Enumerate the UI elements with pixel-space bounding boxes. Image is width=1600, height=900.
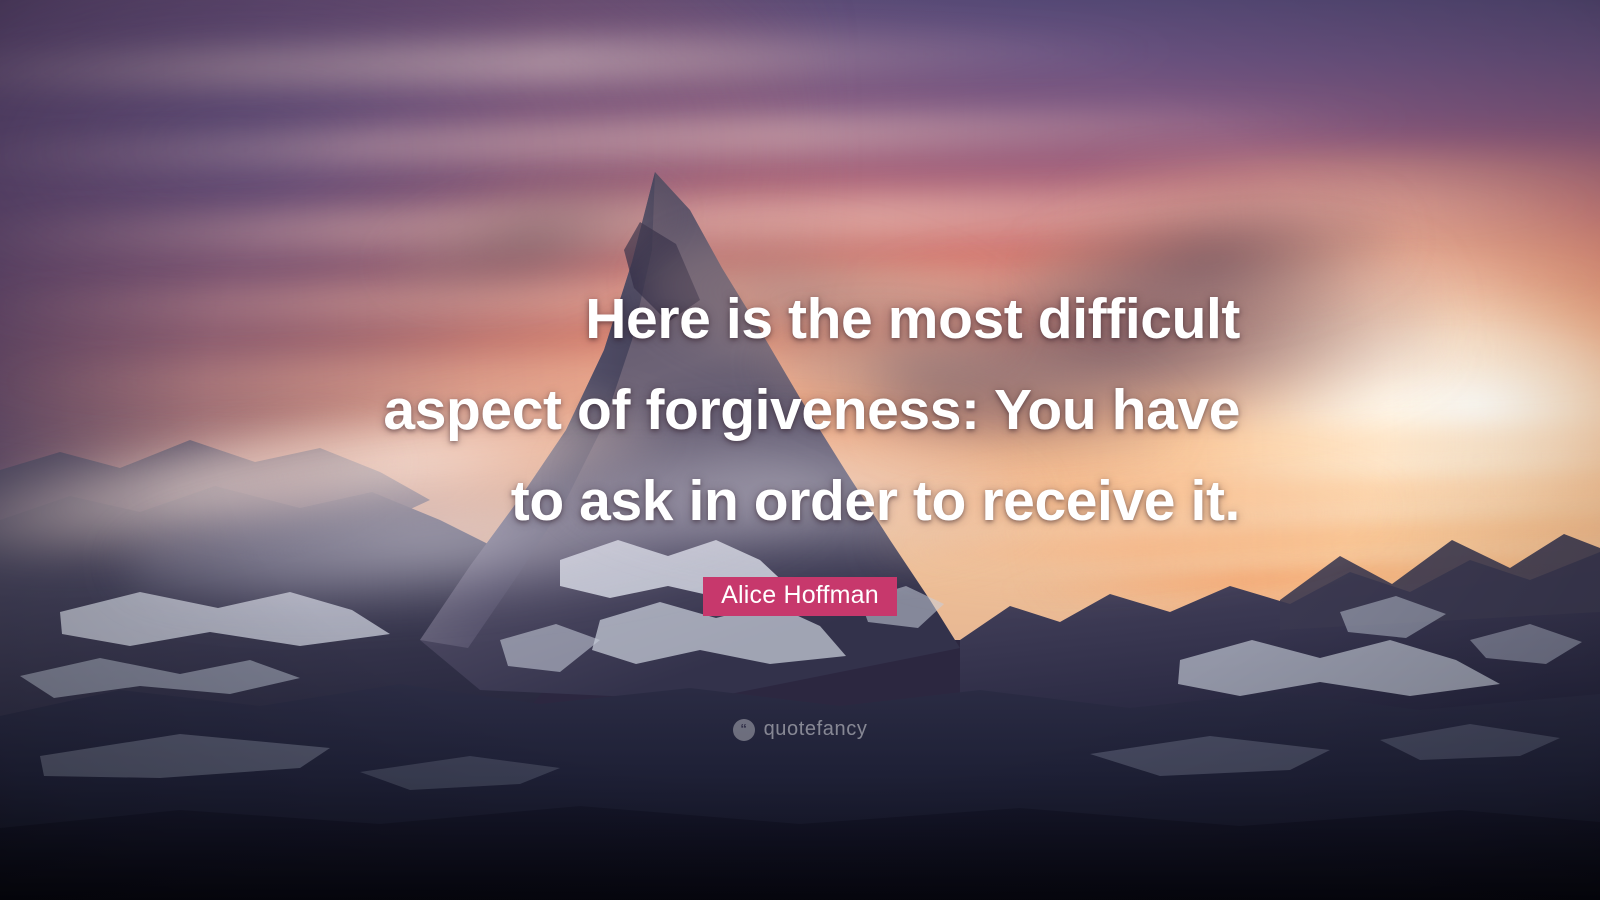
quote-line-1: Here is the most difficult: [330, 274, 1240, 365]
quote-text: Here is the most difficult aspect of for…: [330, 274, 1240, 547]
author-attribution: Alice Hoffman: [0, 577, 1600, 616]
author-name-badge[interactable]: Alice Hoffman: [703, 577, 897, 616]
watermark-brand-label: quotefancy: [764, 718, 868, 741]
quotefancy-logo-icon: “: [733, 719, 755, 741]
quote-line-2: aspect of forgiveness: You have: [330, 365, 1240, 456]
quote-line-3: to ask in order to receive it.: [330, 456, 1240, 547]
quote-poster: Here is the most difficult aspect of for…: [0, 0, 1600, 900]
watermark[interactable]: “ quotefancy: [0, 718, 1600, 741]
